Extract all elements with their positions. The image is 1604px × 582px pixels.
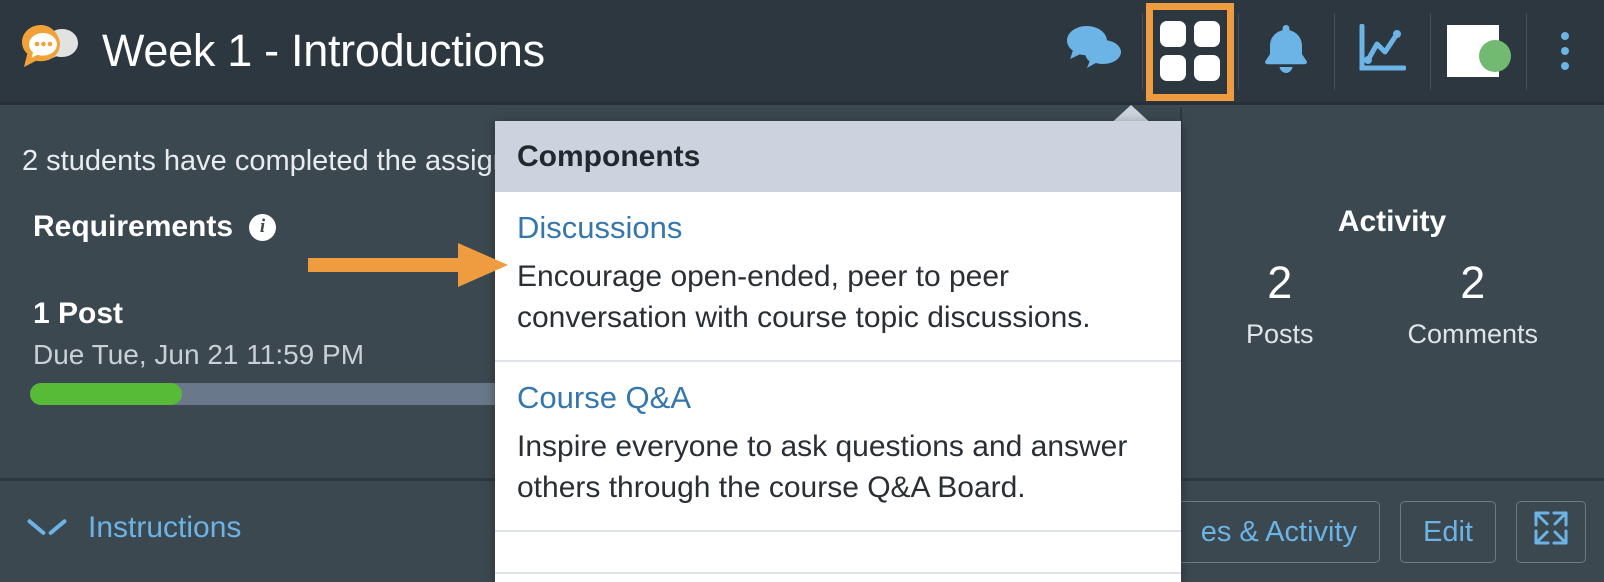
dropdown-item-title[interactable]: Course Q&A	[517, 380, 1159, 416]
bottom-button-row: es & Activity Edit	[1178, 501, 1586, 563]
chat-bubbles-icon	[1067, 26, 1121, 77]
chevron-down-icon	[28, 518, 66, 538]
instructions-label: Instructions	[88, 511, 241, 545]
requirement-progress-fill	[30, 383, 182, 405]
page-title: Week 1 - Introductions	[102, 25, 545, 77]
completion-summary: 2 students have completed the assignment	[22, 145, 573, 178]
dropdown-header-title: Components	[517, 140, 700, 174]
expand-fullscreen-button[interactable]	[1516, 501, 1586, 563]
dropdown-item-description: Encourage open-ended, peer to peer conve…	[517, 256, 1159, 338]
orange-pointer-arrow-icon	[308, 243, 508, 287]
dropdown-item-title[interactable]: Discussions	[517, 210, 1159, 246]
stat-comments: 2 Comments	[1408, 260, 1539, 350]
dropdown-item-course-qa[interactable]: Course Q&A Inspire everyone to ask quest…	[495, 362, 1181, 532]
grid-four-squares-icon	[1160, 21, 1220, 81]
line-chart-icon	[1358, 24, 1406, 79]
brand: Week 1 - Introductions	[0, 23, 545, 79]
kebab-vertical-dots-icon	[1561, 32, 1569, 70]
more-options-button[interactable]	[1526, 0, 1604, 104]
activity-stats: 2 Posts 2 Comments	[1180, 260, 1604, 350]
avatar	[1447, 23, 1509, 79]
bell-icon	[1264, 25, 1308, 78]
edit-button[interactable]: Edit	[1400, 501, 1496, 563]
requirement-item: 1 Post Due Tue, Jun 21 11:59 PM	[33, 297, 364, 371]
stat-posts-value: 2	[1246, 260, 1314, 305]
dropdown-item-discussions[interactable]: Discussions Encourage open-ended, peer t…	[495, 192, 1181, 362]
dropdown-header: Components	[495, 121, 1181, 192]
speech-bubbles-logo-icon	[22, 23, 80, 79]
components-dropdown: Components Discussions Encourage open-en…	[495, 121, 1181, 582]
requirements-title: Requirements	[33, 210, 233, 244]
info-circle-icon[interactable]: i	[249, 214, 276, 241]
app-root: Week 1 - Introductions	[0, 0, 1604, 582]
discussions-icon-button[interactable]	[1046, 0, 1142, 104]
stat-posts-label: Posts	[1246, 319, 1314, 350]
expand-fullscreen-icon	[1533, 510, 1569, 554]
user-avatar-button[interactable]	[1430, 0, 1526, 104]
requirements-header: Requirements i	[33, 210, 276, 244]
topbar-icon-group	[1046, 0, 1604, 104]
top-bar: Week 1 - Introductions	[0, 0, 1604, 105]
stat-comments-label: Comments	[1408, 319, 1539, 350]
requirement-amount: 1 Post	[33, 297, 364, 331]
activity-title: Activity	[1180, 205, 1604, 239]
instructions-toggle[interactable]: Instructions	[28, 511, 241, 545]
stat-posts: 2 Posts	[1246, 260, 1314, 350]
dropdown-item-partial[interactable]	[495, 532, 1181, 574]
dropdown-item-description: Inspire everyone to ask questions and an…	[517, 426, 1159, 508]
analytics-icon-button[interactable]	[1334, 0, 1430, 104]
requirement-due-date: Due Tue, Jun 21 11:59 PM	[33, 339, 364, 371]
stat-comments-value: 2	[1408, 260, 1539, 305]
online-status-dot	[1479, 40, 1511, 72]
components-grid-icon-button[interactable]	[1142, 0, 1238, 104]
activity-panel: Activity 2 Posts 2 Comments	[1180, 105, 1604, 478]
notifications-icon-button[interactable]	[1238, 0, 1334, 104]
responses-activity-button[interactable]: es & Activity	[1178, 501, 1380, 563]
